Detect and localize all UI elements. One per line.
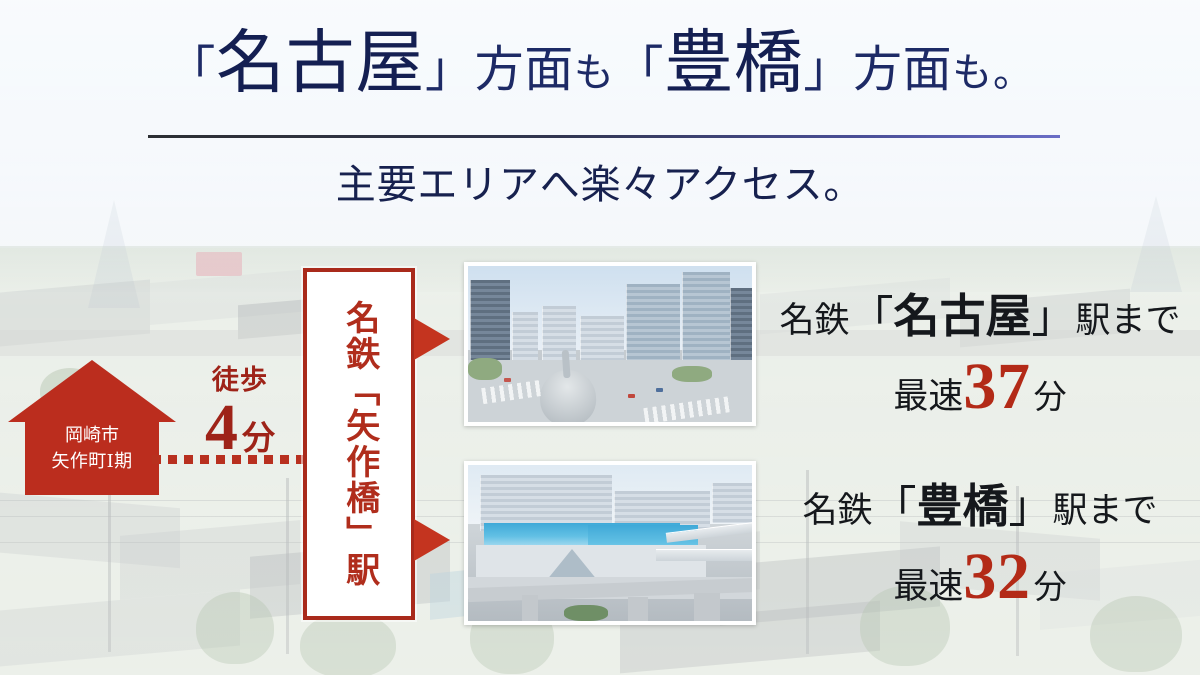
destination-suffix: 駅まで: [1076, 301, 1181, 340]
origin-city: 岡崎市: [8, 422, 176, 448]
access-destination: 名鉄「名古屋」駅まで: [766, 288, 1194, 346]
access-toyohashi: 名鉄「豊橋」駅まで 最速32分: [766, 478, 1194, 610]
photo-vehicle: [504, 378, 511, 382]
photo-greenery: [672, 366, 712, 382]
photo-canopy: [656, 549, 756, 561]
photo-greenery: [468, 358, 502, 380]
destination-station: 名古屋: [894, 291, 1032, 342]
photo-vehicle: [656, 388, 663, 392]
time-value: 32: [963, 540, 1030, 613]
access-time: 最速32分: [766, 544, 1194, 610]
access-time: 最速37分: [766, 354, 1194, 420]
walk-unit: 分: [242, 421, 275, 457]
photo-bridge-pier: [694, 593, 720, 625]
walk-time-block: 徒歩 4分: [178, 358, 302, 461]
station-name-vertical: 名鉄「矢作橋」駅: [307, 272, 411, 616]
photo-vehicle: [628, 394, 635, 398]
close-bracket: 」: [1009, 483, 1053, 532]
title-divider: [148, 135, 1060, 138]
triangle-right-icon: [414, 519, 450, 561]
walk-label: 徒歩: [178, 358, 302, 397]
photo-building: [626, 284, 680, 368]
destination-suffix: 駅まで: [1053, 491, 1158, 530]
walk-value-row: 4分: [178, 395, 302, 461]
house-icon: [8, 360, 176, 422]
photo-building: [712, 483, 756, 523]
destination-station: 豊橋: [917, 481, 1009, 532]
page-subtitle: 主要エリアへ楽々アクセス。: [0, 152, 1200, 210]
station-callout-box: 名鉄「矢作橋」駅: [303, 268, 415, 620]
photo-bridge-pier: [522, 595, 538, 625]
photo-greenery: [564, 605, 608, 621]
time-unit: 分: [1034, 570, 1067, 606]
access-nagoya: 名鉄「名古屋」駅まで 最速37分: [766, 288, 1194, 420]
access-destination: 名鉄「豊橋」駅まで: [766, 478, 1194, 536]
photo-building: [682, 272, 730, 368]
origin-district: 矢作町Ⅰ期: [8, 448, 176, 474]
time-prefix: 最速: [893, 567, 963, 606]
operator-name: 名鉄: [802, 491, 872, 530]
origin-house-marker: 岡崎市 矢作町Ⅰ期: [8, 360, 176, 495]
close-bracket: 」: [1032, 293, 1076, 342]
access-infographic: 「名古屋」方面も「豊橋」方面も。 主要エリアへ楽々アクセス。 岡崎市 矢作町Ⅰ期…: [0, 0, 1200, 675]
nagoya-station-photo: [464, 262, 756, 426]
photo-bridge-pier: [628, 597, 648, 625]
time-value: 37: [963, 350, 1030, 423]
time-prefix: 最速: [893, 377, 963, 416]
walk-minutes: 4: [205, 391, 238, 464]
page-title: 「名古屋」方面も「豊橋」方面も。: [0, 26, 1200, 101]
photo-building: [730, 288, 756, 370]
open-bracket: 「: [850, 293, 894, 342]
triangle-right-icon: [414, 318, 450, 360]
time-unit: 分: [1034, 380, 1067, 416]
origin-label: 岡崎市 矢作町Ⅰ期: [8, 422, 176, 474]
photo-building: [542, 306, 576, 368]
open-bracket: 「: [873, 483, 917, 532]
toyohashi-station-photo: [464, 461, 756, 625]
operator-name: 名鉄: [779, 301, 849, 340]
